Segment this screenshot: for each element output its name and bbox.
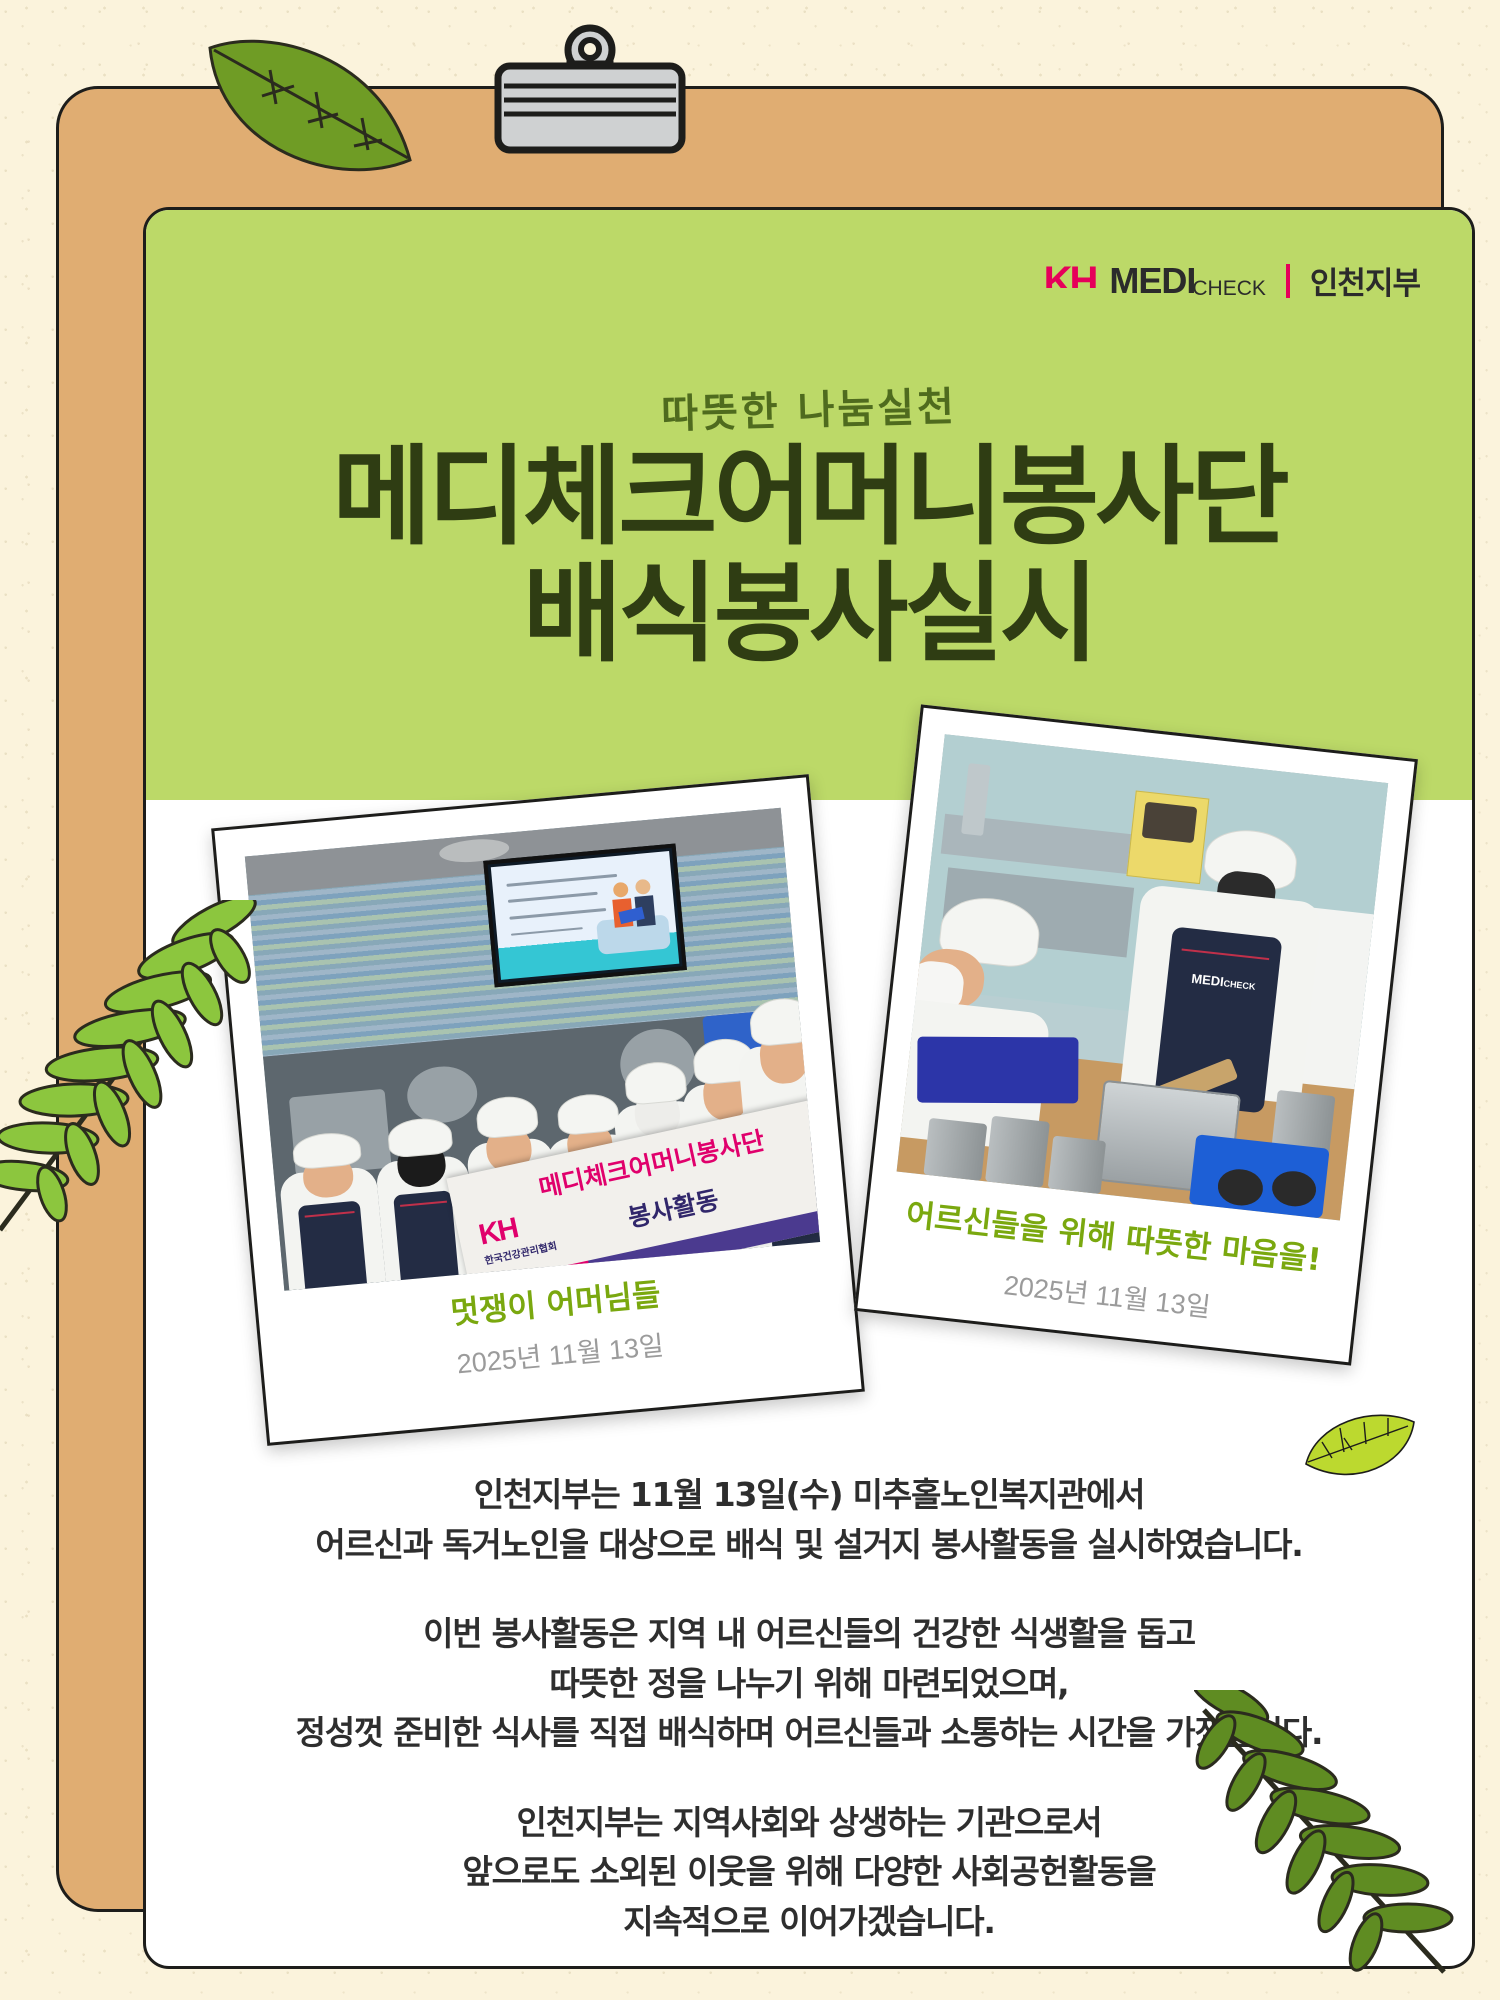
poster-inner: KH MEDI CHECK 인천지부 따뜻한 나눔실천 메디체크어머니봉사단 배… (143, 207, 1475, 1969)
wall-tv (483, 844, 687, 987)
p1-line-2: 어르신과 독거노인을 대상으로 배식 및 설거지 봉사활동을 실시하였습니다. (146, 1520, 1472, 1570)
serving-caption-line-1: 어르신들을 위해 (904, 1197, 1117, 1256)
photo-group-image: KH 한국건강관리협회 메디체크어머니봉사단 봉사활동 (245, 808, 820, 1291)
logo-divider (1286, 264, 1290, 298)
paragraph-2: 이번 봉사활동은 지역 내 어르신들의 건강한 식생활을 돕고 따뜻한 정을 나… (146, 1609, 1472, 1758)
p3-line-1: 인천지부는 지역사회와 상생하는 기관으로서 (146, 1798, 1472, 1848)
p3-line-2: 앞으로도 소외된 이웃을 위해 다양한 사회공헌활동을 (146, 1847, 1472, 1897)
photo-serving-image: MEDICHECK (897, 734, 1389, 1220)
p2-line-1: 이번 봉사활동은 지역 내 어르신들의 건강한 식생활을 돕고 (146, 1609, 1472, 1659)
tv-illustration-icon (600, 875, 667, 945)
paragraph-1: 인천지부는 11월 13일(수) 미추홀노인복지관에서 어르신과 독거노인을 대… (146, 1470, 1472, 1569)
check-logo-text: CHECK (1192, 278, 1266, 299)
title-line-1: 메디체크어머니봉사단 (332, 435, 1286, 560)
p2-line-3: 정성껏 준비한 식사를 직접 배식하며 어르신들과 소통하는 시간을 가졌습니다… (146, 1708, 1472, 1758)
p1-line-1: 인천지부는 11월 13일(수) 미추홀노인복지관에서 (146, 1470, 1472, 1520)
banner-line-2: 봉사활동 (624, 1180, 722, 1235)
medi-logo-text: MEDI (1109, 263, 1195, 299)
page-title: 메디체크어머니봉사단 배식봉사실시 (146, 440, 1472, 673)
clipboard-clip-icon (474, 24, 706, 154)
body-text: 인천지부는 11월 13일(수) 미추홀노인복지관에서 어르신과 독거노인을 대… (146, 1470, 1472, 1946)
p3-line-3: 지속적으로 이어가겠습니다. (146, 1897, 1472, 1947)
photo-card-group: KH 한국건강관리협회 메디체크어머니봉사단 봉사활동 멋쟁이 어머님들 202… (211, 774, 865, 1446)
kh-medicheck-logo: KH MEDI CHECK 인천지부 (1044, 258, 1420, 303)
branch-label: 인천지부 (1310, 258, 1420, 303)
title-line-2: 배식봉사실시 (146, 557, 1472, 674)
kh-logo-text: KH (1044, 261, 1096, 301)
photo-card-serving: MEDICHECK (854, 704, 1418, 1365)
serving-caption-line-2: 따뜻한 마음을! (1124, 1221, 1323, 1278)
banner-kh-logo: KH 한국건강관리협회 (476, 1205, 558, 1267)
paragraph-3: 인천지부는 지역사회와 상생하는 기관으로서 앞으로도 소외된 이웃을 위해 다… (146, 1798, 1472, 1947)
poster-frame: KH MEDI CHECK 인천지부 따뜻한 나눔실천 메디체크어머니봉사단 배… (56, 86, 1444, 1912)
p2-line-2: 따뜻한 정을 나누기 위해 마련되었으며, (146, 1659, 1472, 1709)
